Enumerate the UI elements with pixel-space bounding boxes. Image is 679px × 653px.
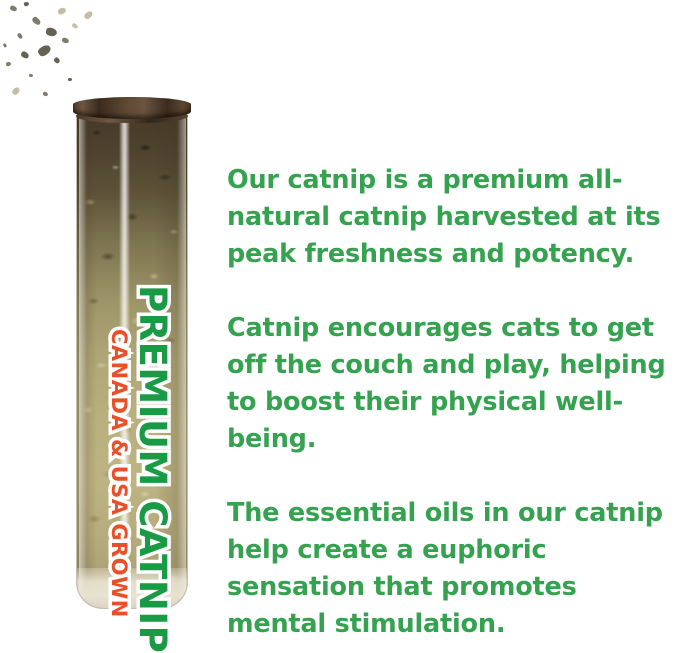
tube-highlight-left — [79, 113, 87, 608]
tube-base — [77, 568, 187, 608]
copy-paragraph-2: Catnip encourages cats to get off the co… — [227, 310, 679, 458]
marketing-copy-block: Our catnip is a premium all-natural catn… — [227, 162, 679, 643]
copy-paragraph-1: Our catnip is a premium all-natural catn… — [227, 162, 679, 273]
tube-highlight-right — [177, 113, 186, 608]
tube-body — [77, 113, 187, 608]
tube-cylinder-shading — [77, 113, 187, 608]
tube-highlight-center — [119, 113, 130, 608]
catnip-tube: CANADA & USA GROWN PREMIUM CATNIP — [77, 97, 187, 622]
product-photo: CANADA & USA GROWN PREMIUM CATNIP — [0, 0, 215, 643]
tube-cap — [73, 97, 191, 119]
copy-paragraph-3: The essential oils in our catnip help cr… — [227, 495, 679, 643]
